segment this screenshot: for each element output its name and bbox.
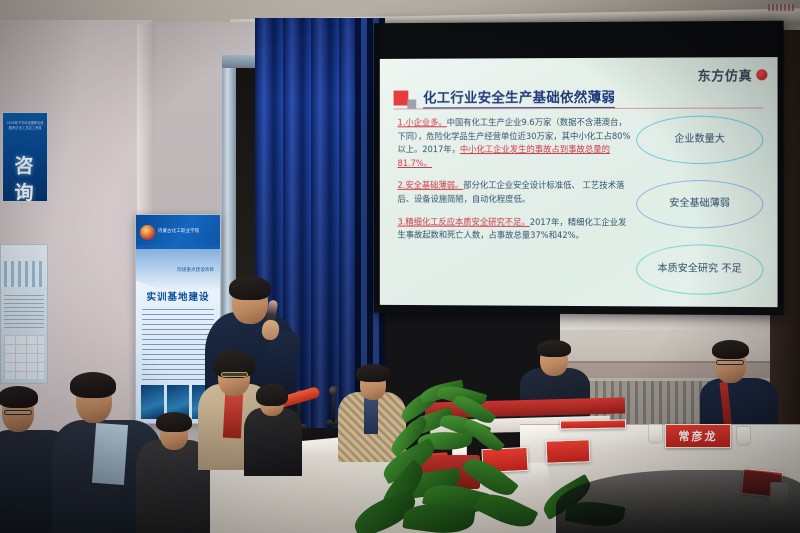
- conference-room-scene: 2018年下半年全国职业资格考试 化工总控工考核 咨 询 处 内蒙古化工职业学院…: [0, 0, 800, 533]
- attendee-1-hair: [0, 386, 38, 408]
- ceiling-vent-icon: [768, 4, 794, 11]
- attendee-tan-tie: [364, 398, 378, 434]
- rollup-org-name: 内蒙古化工职业学院: [158, 229, 199, 235]
- screen-right-border: [778, 21, 784, 316]
- screen-top-border: [374, 21, 784, 59]
- poster-figure-illustration: [4, 261, 44, 287]
- slide-logo-dot-icon: [756, 69, 767, 80]
- attendee-2-hair: [70, 372, 116, 398]
- slide-logo: 东方仿真: [698, 65, 768, 84]
- paragraph-2-index: 2.: [398, 180, 406, 190]
- rollup-banner-header: 内蒙古化工职业学院: [136, 215, 220, 249]
- nameplate-center: [560, 419, 626, 429]
- slide-body-text: 1.小企业多。中国有化工生产企业9.6万家（数据不含港澳台，下同），危险化学品生…: [398, 116, 635, 252]
- attendee-2-shirt: [92, 423, 128, 485]
- attendee-1-glasses-icon: [4, 410, 32, 415]
- wall-banner-subtext: 2018年下半年全国职业资格考试 化工总控工考核: [6, 121, 44, 131]
- slide-title: 化工行业安全生产基础依然薄弱: [423, 86, 615, 109]
- rollup-body-text: [142, 309, 214, 381]
- nameplate-chang-yanlong: 常彦龙: [665, 424, 731, 448]
- callout-oval-3: 本质安全研究 不足: [636, 244, 763, 295]
- poster-table-grid: [4, 335, 44, 379]
- callout-oval-1: 企业数量大: [636, 116, 763, 164]
- red-square-bullet-icon: [394, 90, 409, 105]
- paragraph-2-lead: 安全基础薄弱。: [405, 180, 463, 190]
- attendee-back-center-hair: [537, 340, 571, 357]
- slide-title-underline: [394, 108, 764, 110]
- school-emblem-icon: [140, 225, 155, 240]
- attendee-right-hair: [712, 340, 749, 359]
- slide-title-row: 化工行业安全生产基础依然薄弱: [394, 86, 616, 109]
- nameplate-front-7: [546, 439, 591, 464]
- paragraph-3-lead: 精细化工反应本质安全研究不足。: [405, 216, 529, 226]
- paper-cup-7: [648, 424, 663, 444]
- speaker-hair: [229, 276, 271, 300]
- attendee-woman-scarf: [223, 394, 243, 439]
- attendee-backleft-hair: [256, 384, 288, 406]
- slide-paragraph-1: 1.小企业多。中国有化工生产企业9.6万家（数据不含港澳台，下同），危险化学品生…: [398, 116, 635, 171]
- mic-stem: [332, 392, 335, 422]
- callout-oval-2: 安全基础薄弱: [636, 180, 763, 228]
- paragraph-1-lead: 小企业多。: [405, 117, 446, 127]
- attendee-right-glasses-icon: [716, 360, 744, 365]
- slide-callout-group: 企业数量大 安全基础薄弱 本质安全研究 不足: [636, 116, 769, 297]
- wall-poster-safety: [0, 244, 48, 384]
- paper-cup-8: [736, 426, 751, 446]
- slide-logo-text: 东方仿真: [698, 65, 753, 84]
- slide-paragraph-2: 2.安全基础薄弱。部分化工企业安全设计标准低、 工艺技术落后、设备设施简陋，自动…: [398, 179, 635, 206]
- poster-text-lines: [4, 295, 44, 329]
- slide-paragraph-3: 3.精细化工反应本质安全研究不足。2017年，精细化工企业发生事故起数和死亡人数…: [398, 215, 635, 243]
- attendee-3-hair: [156, 412, 192, 432]
- mic-capsule: [329, 386, 338, 395]
- wall-banner-main-text: 咨 询 处: [3, 151, 47, 202]
- grey-square-bullet-icon: [407, 99, 416, 108]
- rollup-title: 实训基地建设: [136, 289, 220, 303]
- attendee-tan-hair: [356, 364, 390, 382]
- attendee-woman-glasses-icon: [221, 372, 248, 377]
- paragraph-3-index: 3.: [398, 216, 406, 226]
- attendee-backleft-torso: [244, 408, 302, 476]
- wall-banner-consultation: 2018年下半年全国职业资格考试 化工总控工考核 咨 询 处: [2, 112, 48, 202]
- presentation-slide: 东方仿真 化工行业安全生产基础依然薄弱 1.小企业多。中国有化工生产企业9.6万…: [380, 57, 778, 307]
- projection-screen: 东方仿真 化工行业安全生产基础依然薄弱 1.小企业多。中国有化工生产企业9.6万…: [374, 21, 784, 316]
- rollup-subtitle: 院级重点建设项目: [177, 267, 214, 273]
- paragraph-1-index: 1.: [398, 117, 406, 127]
